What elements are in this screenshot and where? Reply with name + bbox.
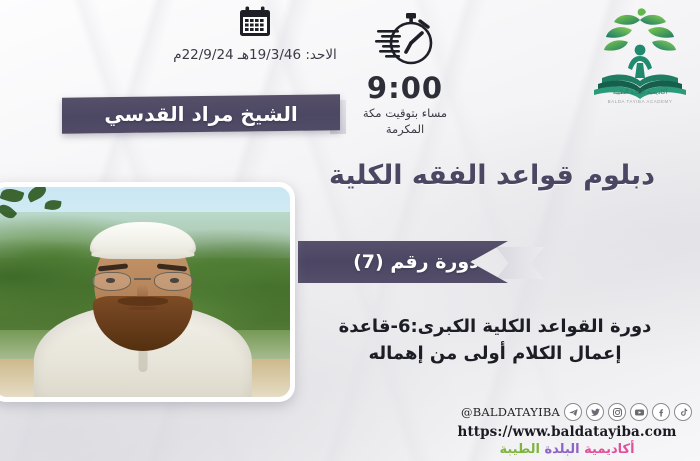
academy-name-part-2: البلدة [545, 442, 580, 457]
twitter-icon[interactable] [586, 403, 604, 421]
academy-name-part-1: أكاديمية [584, 442, 634, 457]
course-description: دورة القواعد الكلية الكبرى:6-قاعدة إعمال… [310, 313, 680, 367]
youtube-icon[interactable] [630, 403, 648, 421]
photo-moustache [117, 297, 167, 306]
academy-logo: أكاديمية البلدة الطيبة BALDA TAYIBA ACAD… [588, 6, 692, 110]
photo-cap-band [91, 250, 194, 259]
tiktok-icon[interactable] [674, 403, 692, 421]
event-time: 9:00 [345, 74, 465, 103]
footer: @BALDATAYIBA [442, 403, 692, 457]
facebook-icon[interactable] [652, 403, 670, 421]
timezone-line-2: المكرمة [386, 122, 424, 136]
course-number-ribbon: دورة رقم (7) [298, 241, 508, 283]
speaker-photo [0, 187, 290, 397]
social-handle: @BALDATAYIBA [461, 405, 560, 419]
time-block: 9:00 مساء بتوقيت مكة المكرمة [345, 8, 465, 137]
instagram-icon[interactable] [608, 403, 626, 421]
speaker-name: الشيخ مراد القدسي [104, 102, 297, 126]
speaker-name-banner: الشيخ مراد القدسي [62, 94, 340, 133]
logo-english-name: BALDA TAYIBA ACADEMY [588, 99, 692, 104]
photo-glasses-left [92, 272, 131, 291]
website-url[interactable]: https://www.baldatayiba.com [442, 424, 692, 440]
stopwatch-icon [373, 8, 437, 72]
course-description-line-1: دورة القواعد الكلية الكبرى:6-قاعدة [310, 313, 680, 340]
logo-arabic-name: أكاديمية البلدة الطيبة [588, 89, 692, 96]
course-announcement-poster: الاحد: 19/3/46هـ 22/9/24م 9:00 مساء بت [0, 0, 700, 461]
course-number-label: دورة رقم (7) [353, 251, 479, 273]
speaker-photo-frame [0, 182, 295, 402]
academy-name-part-3: الطيبة [499, 442, 540, 457]
social-row: @BALDATAYIBA [442, 403, 692, 421]
course-description-line-2: إعمال الكلام أولى من إهماله [310, 340, 680, 367]
calendar-icon [238, 6, 272, 38]
telegram-icon[interactable] [564, 403, 582, 421]
timezone-line-1: مساء بتوقيت مكة [363, 106, 447, 120]
page-title: دبلوم قواعد الفقه الكلية [302, 160, 682, 191]
event-timezone: مساء بتوقيت مكة المكرمة [345, 106, 465, 137]
photo-glasses-right [154, 272, 193, 291]
photo-glasses-bridge [134, 278, 151, 280]
academy-name-footer: أكاديمية البلدة الطيبة [442, 442, 692, 457]
